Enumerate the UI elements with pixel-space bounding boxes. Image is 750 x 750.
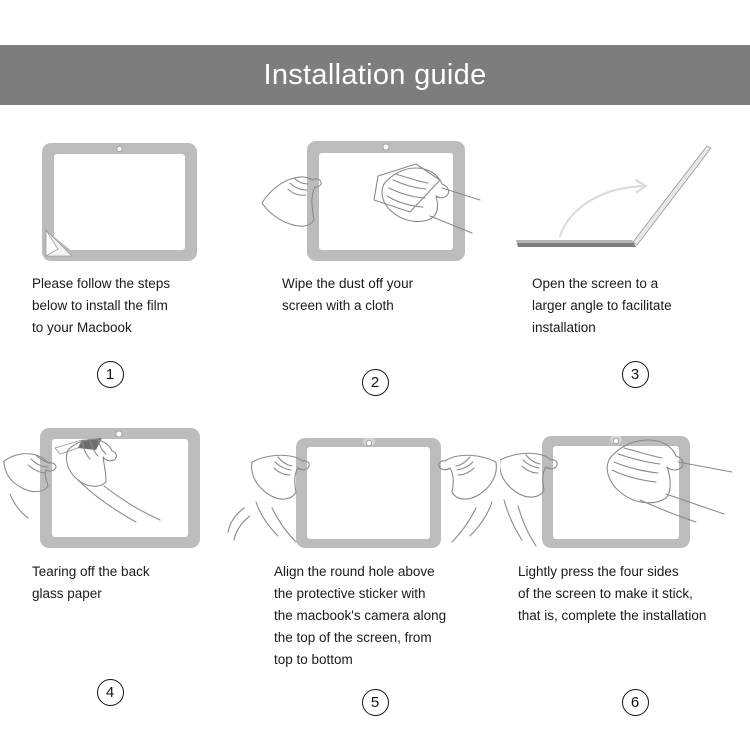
step-2-caption: Wipe the dust off your screen with a clo… — [250, 273, 500, 317]
step-card-4: Tearing off the back glass paper 4 — [0, 416, 250, 716]
installation-guide-page: Installation guide — [0, 0, 750, 750]
step-2-illustration — [250, 128, 500, 273]
step-6-illustration — [500, 416, 750, 561]
caption-line: the protective sticker with — [274, 583, 492, 605]
step-number-badge: 2 — [362, 369, 389, 396]
steps-grid: Please follow the steps below to install… — [0, 128, 750, 716]
step-1-caption: Please follow the steps below to install… — [0, 273, 250, 339]
step-5-caption: Align the round hole above the protectiv… — [250, 561, 500, 671]
step-number-badge: 4 — [97, 679, 124, 706]
step-2-badge-wrap: 2 — [250, 359, 500, 396]
step-4-caption: Tearing off the back glass paper — [0, 561, 250, 605]
caption-line: Wipe the dust off your — [282, 273, 492, 295]
caption-line: Lightly press the four sides — [518, 561, 742, 583]
caption-line: below to install the film — [32, 295, 242, 317]
caption-line: Please follow the steps — [32, 273, 242, 295]
partial-right-edge-graphic — [228, 508, 250, 540]
step-card-1: Please follow the steps below to install… — [0, 128, 250, 396]
step-card-5: Align the round hole above the protectiv… — [250, 416, 500, 716]
caption-line: to your Macbook — [32, 317, 242, 339]
header-band: Installation guide — [0, 45, 750, 105]
laptop-base-graphic — [516, 240, 636, 247]
step-card-6: Lightly press the four sides of the scre… — [500, 416, 750, 716]
step-6-caption: Lightly press the four sides of the scre… — [500, 561, 750, 627]
step-6-badge-wrap: 6 — [490, 679, 750, 716]
step-card-2: Wipe the dust off your screen with a clo… — [250, 128, 500, 396]
step-number-badge: 5 — [362, 689, 389, 716]
step-4-illustration — [0, 416, 250, 561]
open-motion-arrow-graphic — [560, 180, 646, 236]
caption-line: of the screen to make it stick, — [518, 583, 742, 605]
caption-line: top to bottom — [274, 649, 492, 671]
caption-line: screen with a cloth — [282, 295, 492, 317]
caption-line: that is, complete the installation — [518, 605, 742, 627]
step-3-illustration — [500, 128, 750, 273]
step-number-badge: 6 — [622, 689, 649, 716]
tablet-screen-graphic — [296, 438, 441, 548]
caption-line: Align the round hole above — [274, 561, 492, 583]
caption-line: Open the screen to a — [532, 273, 742, 295]
caption-line: the macbook's camera along — [274, 605, 492, 627]
caption-line: larger angle to facilitate — [532, 295, 742, 317]
caption-line: Tearing off the back — [32, 561, 242, 583]
step-5-badge-wrap: 5 — [250, 679, 500, 716]
caption-line: glass paper — [32, 583, 242, 605]
step-number-badge: 1 — [97, 361, 124, 388]
step-4-badge-wrap: 4 — [0, 669, 265, 706]
tablet-screen-graphic — [542, 436, 690, 548]
step-card-3: Open the screen to a larger angle to fac… — [500, 128, 750, 396]
step-number-badge: 3 — [622, 361, 649, 388]
step-1-badge-wrap: 1 — [0, 351, 265, 388]
caption-line: the top of the screen, from — [274, 627, 492, 649]
step-3-badge-wrap: 3 — [490, 351, 750, 388]
page-title: Installation guide — [263, 61, 486, 90]
right-hand-graphic — [439, 455, 497, 542]
step-5-illustration — [250, 416, 500, 561]
laptop-lid-graphic — [633, 146, 711, 245]
step-1-illustration — [0, 128, 250, 273]
caption-line: installation — [532, 317, 742, 339]
tablet-screen-graphic — [42, 143, 197, 261]
step-3-caption: Open the screen to a larger angle to fac… — [500, 273, 750, 339]
